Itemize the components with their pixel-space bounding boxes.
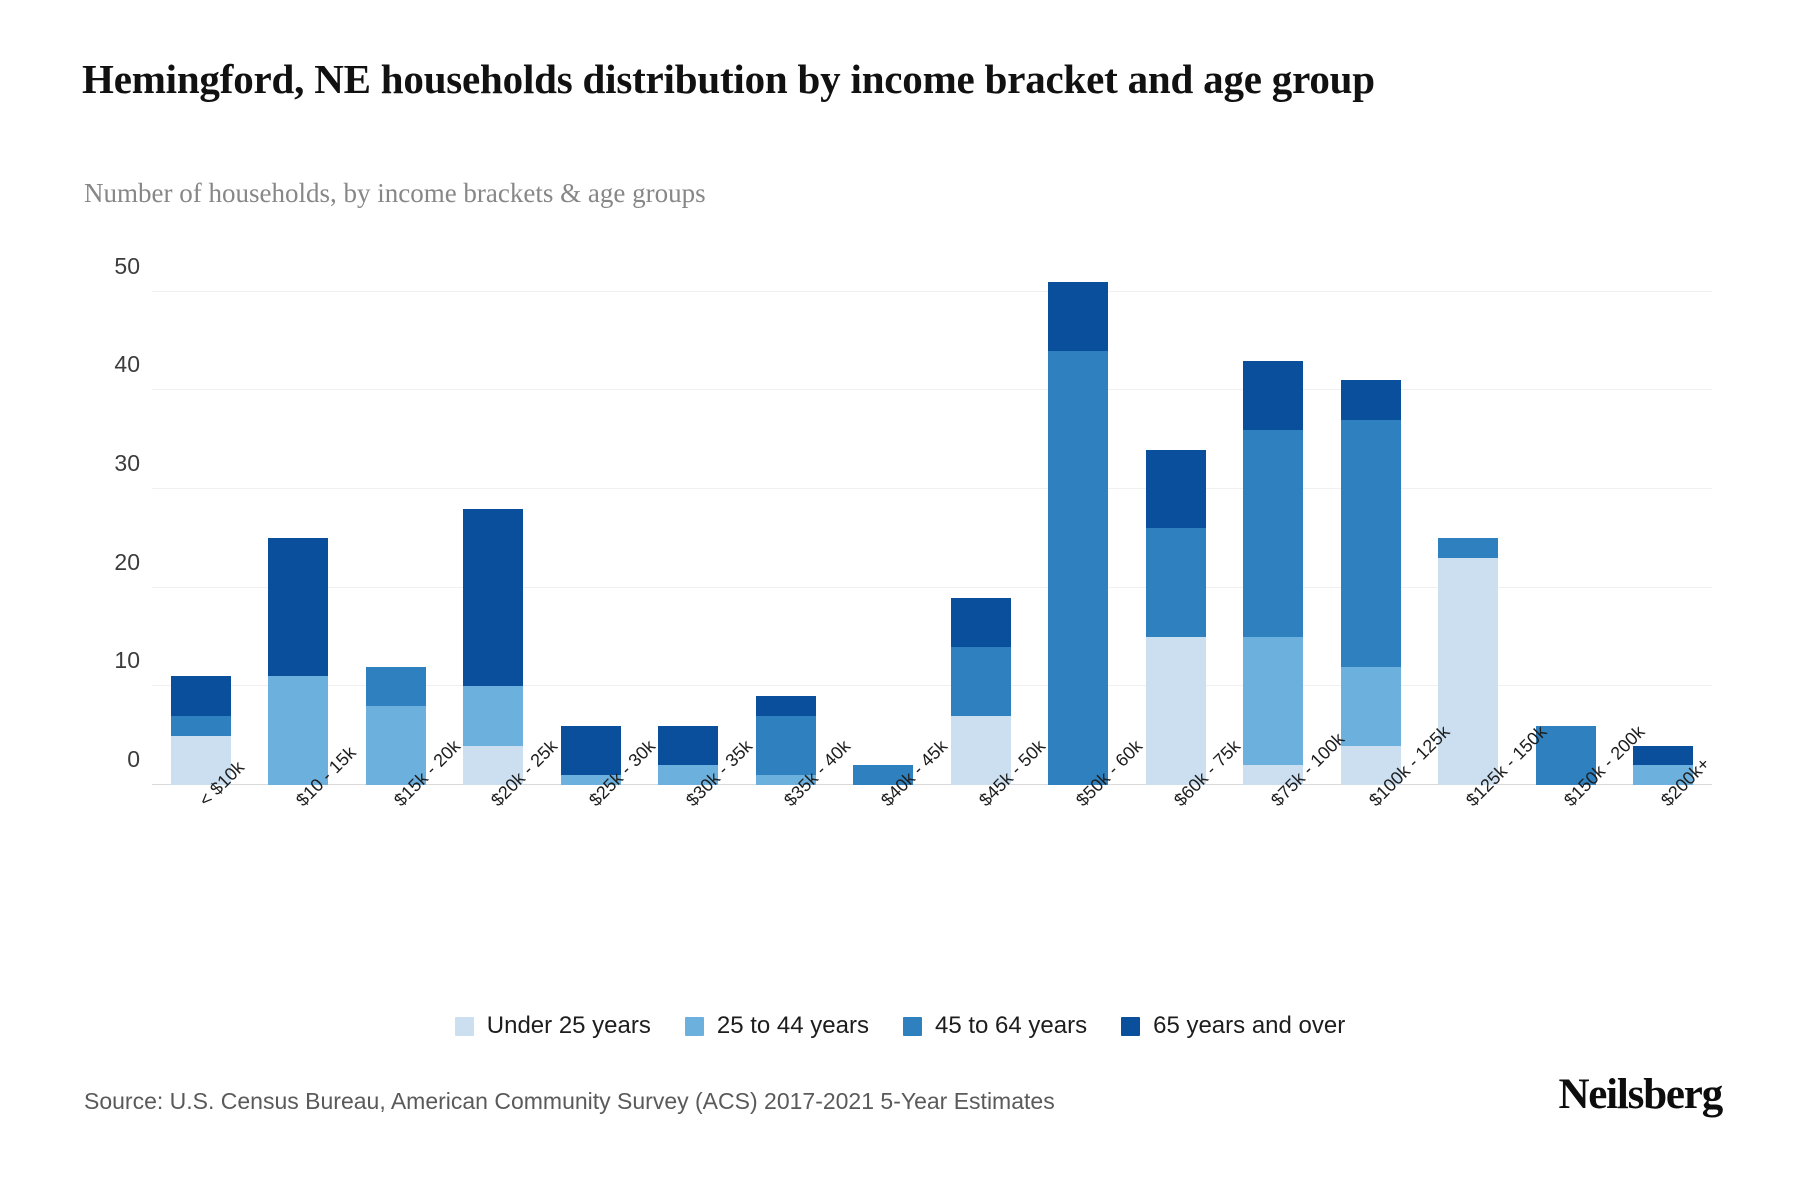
y-tick-label: 20 xyxy=(80,549,140,576)
bar-series-container xyxy=(152,262,1712,785)
stacked-bar[interactable] xyxy=(268,538,328,785)
x-label-slot: $20k - 25k xyxy=(445,786,543,906)
legend-swatch-icon xyxy=(1121,1017,1140,1036)
bar-segment[interactable] xyxy=(1146,637,1206,785)
chart-legend: Under 25 years25 to 44 years45 to 64 yea… xyxy=(0,1012,1800,1040)
page-title: Hemingford, NE households distribution b… xyxy=(82,52,1702,106)
x-label-slot: $25k - 30k xyxy=(542,786,640,906)
x-label-slot: < $10k xyxy=(152,786,250,906)
plot-area: 01020304050 xyxy=(152,262,1712,785)
legend-label: 25 to 44 years xyxy=(717,1012,869,1040)
bar-group[interactable] xyxy=(1322,262,1420,785)
stacked-bar[interactable] xyxy=(366,667,426,785)
bar-group[interactable] xyxy=(347,262,445,785)
bar-segment[interactable] xyxy=(1243,361,1303,430)
bar-segment[interactable] xyxy=(756,696,816,716)
legend-label: 65 years and over xyxy=(1153,1012,1345,1040)
bar-segment[interactable] xyxy=(951,647,1011,716)
x-label-slot: $150k - 200k xyxy=(1517,786,1615,906)
legend-item[interactable]: 25 to 44 years xyxy=(685,1012,869,1040)
bar-segment[interactable] xyxy=(1438,538,1498,558)
bar-segment[interactable] xyxy=(171,716,231,736)
brand-logo: Neilsberg xyxy=(1558,1070,1722,1119)
bar-segment[interactable] xyxy=(756,716,816,775)
legend-label: Under 25 years xyxy=(487,1012,651,1040)
bar-segment[interactable] xyxy=(658,726,718,765)
y-tick-label: 10 xyxy=(80,647,140,674)
legend-item[interactable]: Under 25 years xyxy=(455,1012,651,1040)
bar-group[interactable] xyxy=(1615,262,1713,785)
bar-segment[interactable] xyxy=(1048,351,1108,785)
bar-segment[interactable] xyxy=(171,676,231,715)
x-label-slot: $200k+ xyxy=(1615,786,1713,906)
bar-segment[interactable] xyxy=(1438,558,1498,785)
stacked-bar[interactable] xyxy=(1048,282,1108,785)
x-label-slot: $125k - 150k xyxy=(1420,786,1518,906)
x-axis-labels: < $10k$10 - 15k$15k - 20k$20k - 25k$25k … xyxy=(152,786,1712,906)
legend-item[interactable]: 65 years and over xyxy=(1121,1012,1345,1040)
bar-segment[interactable] xyxy=(1633,746,1693,766)
x-label-slot: $75k - 100k xyxy=(1225,786,1323,906)
x-label-slot: $100k - 125k xyxy=(1322,786,1420,906)
bar-group[interactable] xyxy=(1030,262,1128,785)
page-subtitle: Number of households, by income brackets… xyxy=(84,176,1284,211)
bar-segment[interactable] xyxy=(1243,430,1303,637)
y-tick-label: 30 xyxy=(80,450,140,477)
bar-segment[interactable] xyxy=(268,538,328,676)
bar-segment[interactable] xyxy=(463,686,523,745)
bar-segment[interactable] xyxy=(366,667,426,706)
bar-group[interactable] xyxy=(1225,262,1323,785)
y-tick-label: 50 xyxy=(80,253,140,280)
bar-segment[interactable] xyxy=(1048,282,1108,351)
bar-segment[interactable] xyxy=(1341,667,1401,746)
legend-swatch-icon xyxy=(455,1017,474,1036)
x-label-slot: $40k - 45k xyxy=(835,786,933,906)
legend-swatch-icon xyxy=(685,1017,704,1036)
bar-segment[interactable] xyxy=(1341,420,1401,667)
bar-group[interactable] xyxy=(1420,262,1518,785)
y-tick-label: 40 xyxy=(80,351,140,378)
x-label-slot: $35k - 40k xyxy=(737,786,835,906)
legend-label: 45 to 64 years xyxy=(935,1012,1087,1040)
bar-group[interactable] xyxy=(1127,262,1225,785)
x-label-slot: $15k - 20k xyxy=(347,786,445,906)
stacked-bar[interactable] xyxy=(1341,380,1401,785)
bar-group[interactable] xyxy=(737,262,835,785)
stacked-bar[interactable] xyxy=(1438,538,1498,785)
bar-group[interactable] xyxy=(835,262,933,785)
bar-group[interactable] xyxy=(1517,262,1615,785)
bar-group[interactable] xyxy=(445,262,543,785)
x-label-slot: $60k - 75k xyxy=(1127,786,1225,906)
bar-segment[interactable] xyxy=(463,509,523,687)
y-tick-label: 0 xyxy=(80,746,140,773)
bar-group[interactable] xyxy=(250,262,348,785)
bar-segment[interactable] xyxy=(951,598,1011,647)
bar-segment[interactable] xyxy=(1146,528,1206,637)
chart-page: Hemingford, NE households distribution b… xyxy=(0,0,1800,1200)
bar-group[interactable] xyxy=(932,262,1030,785)
bar-group[interactable] xyxy=(542,262,640,785)
bar-segment[interactable] xyxy=(1146,450,1206,529)
bar-group[interactable] xyxy=(640,262,738,785)
bar-segment[interactable] xyxy=(1341,380,1401,419)
stacked-bar[interactable] xyxy=(1243,361,1303,785)
bar-segment[interactable] xyxy=(1243,637,1303,765)
x-label-slot: $45k - 50k xyxy=(932,786,1030,906)
bar-group[interactable] xyxy=(152,262,250,785)
x-label-slot: $10 - 15k xyxy=(250,786,348,906)
stacked-bar[interactable] xyxy=(463,509,523,785)
x-label-slot: $50k - 60k xyxy=(1030,786,1128,906)
legend-item[interactable]: 45 to 64 years xyxy=(903,1012,1087,1040)
stacked-bar[interactable] xyxy=(1146,450,1206,786)
x-label-slot: $30k - 35k xyxy=(640,786,738,906)
legend-swatch-icon xyxy=(903,1017,922,1036)
stacked-bar[interactable] xyxy=(951,598,1011,785)
source-note: Source: U.S. Census Bureau, American Com… xyxy=(84,1088,1055,1115)
